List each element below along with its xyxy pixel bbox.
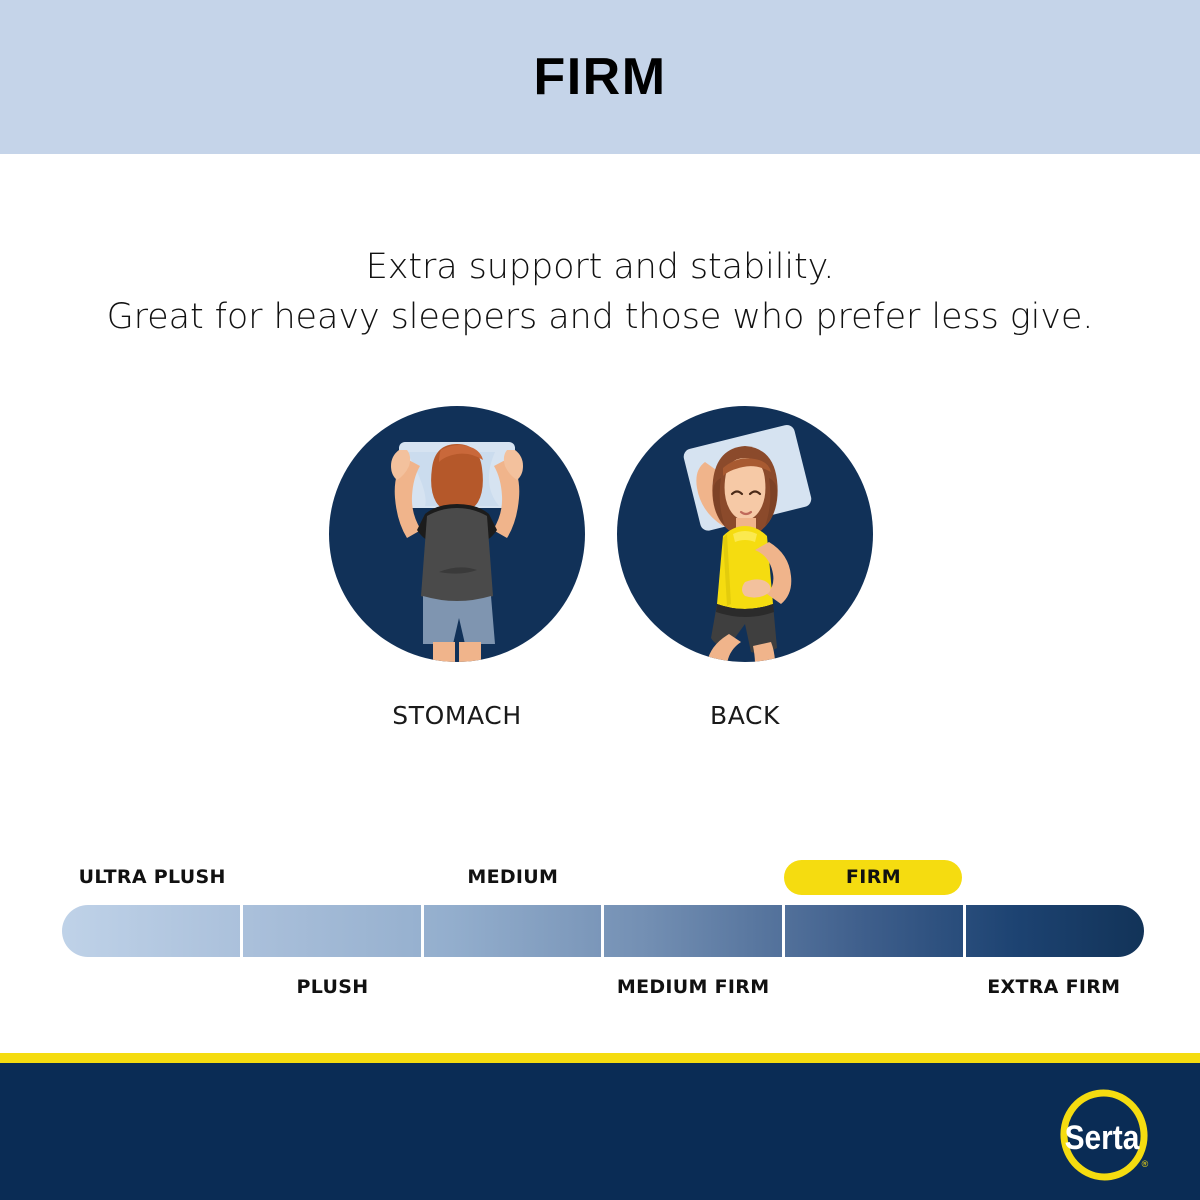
page-title: FIRM xyxy=(533,47,666,107)
footer-accent-stripe xyxy=(0,1053,1200,1063)
firmness-segment-medium[interactable] xyxy=(424,905,605,957)
firmness-scale-bottom-labels: PLUSH MEDIUM FIRM EXTRA FIRM xyxy=(62,972,1144,1002)
stomach-sleeper-illustration xyxy=(329,406,585,662)
footer-bar: Serta ® xyxy=(0,1063,1200,1200)
sleep-position-stomach: STOMACH xyxy=(329,406,585,730)
status-badge-firm[interactable]: FIRM xyxy=(784,860,962,895)
subtitle-description: Extra support and stability. Great for h… xyxy=(0,243,1200,342)
serta-logo[interactable]: Serta ® xyxy=(1048,1089,1160,1181)
subtitle-line-1: Extra support and stability. xyxy=(0,243,1200,293)
firmness-segment-medium-firm[interactable] xyxy=(604,905,785,957)
serta-logo-text: Serta xyxy=(1065,1118,1141,1156)
firmness-segment-extra-firm[interactable] xyxy=(966,905,1144,957)
firmness-selected-cell: FIRM xyxy=(783,862,963,892)
subtitle-line-2: Great for heavy sleepers and those who p… xyxy=(0,293,1200,343)
firmness-label-extra-firm[interactable]: EXTRA FIRM xyxy=(964,972,1144,1002)
firmness-label-medium-firm[interactable]: MEDIUM FIRM xyxy=(603,972,783,1002)
firmness-info-card: FIRM Extra support and stability. Great … xyxy=(0,0,1200,1200)
firmness-segment-plush[interactable] xyxy=(243,905,424,957)
firmness-scale-bar[interactable] xyxy=(62,905,1144,957)
serta-logo-trademark: ® xyxy=(1142,1159,1149,1169)
firmness-segment-ultra-plush[interactable] xyxy=(62,905,243,957)
header-banner: FIRM xyxy=(0,0,1200,154)
firmness-segment-firm[interactable] xyxy=(785,905,966,957)
back-sleeper-illustration xyxy=(617,406,873,662)
sleep-positions-group: STOMACH xyxy=(0,406,1200,746)
sleep-position-label-back: BACK xyxy=(617,701,873,730)
sleep-position-label-stomach: STOMACH xyxy=(329,701,585,730)
sleep-position-back: BACK xyxy=(617,406,873,730)
firmness-scale: ULTRA PLUSH MEDIUM FIRM PLUSH MEDIUM FIR… xyxy=(62,862,1144,1002)
firmness-scale-top-labels: ULTRA PLUSH MEDIUM FIRM xyxy=(62,862,1144,892)
firmness-label-medium[interactable]: MEDIUM xyxy=(423,862,603,892)
firmness-label-ultra-plush[interactable]: ULTRA PLUSH xyxy=(62,862,242,892)
firmness-label-plush[interactable]: PLUSH xyxy=(242,972,422,1002)
